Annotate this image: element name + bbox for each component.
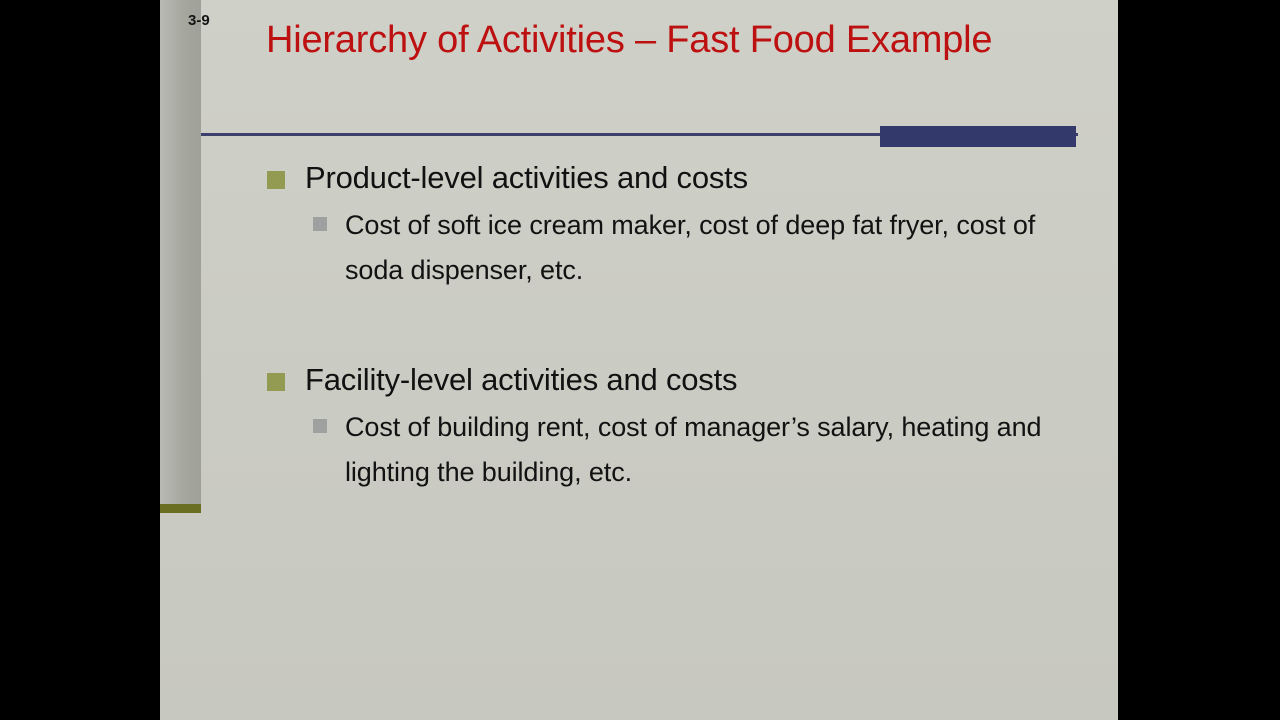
sub-bullet-item-facility-level-detail: Cost of building rent, cost of manager’s… — [160, 405, 1118, 496]
slide-stage: 3-9 Hierarchy of Activities – Fast Food … — [0, 0, 1280, 720]
square-bullet-icon — [267, 171, 285, 189]
square-bullet-icon — [267, 373, 285, 391]
sub-bullet-detail-label: Cost of building rent, cost of manager’s… — [345, 405, 1065, 496]
slide-number: 3-9 — [188, 13, 210, 28]
square-sub-bullet-icon — [313, 419, 327, 433]
bullet-heading-label: Product-level activities and costs — [305, 158, 1118, 199]
section-spacer — [160, 294, 1118, 360]
title-block: Hierarchy of Activities – Fast Food Exam… — [266, 14, 1056, 68]
side-decoration-strip-foot — [160, 504, 201, 513]
bullet-heading-label: Facility-level activities and costs — [305, 360, 1118, 401]
sub-bullet-item-product-level-detail: Cost of soft ice cream maker, cost of de… — [160, 203, 1118, 294]
page-title: Hierarchy of Activities – Fast Food Exam… — [266, 14, 1056, 68]
bullet-item-product-level: Product-level activities and costs — [160, 158, 1118, 199]
title-divider-accent-block — [880, 126, 1076, 147]
sub-bullet-detail-label: Cost of soft ice cream maker, cost of de… — [345, 203, 1065, 294]
slide-canvas: 3-9 Hierarchy of Activities – Fast Food … — [160, 0, 1118, 720]
slide-body: Product-level activities and costs Cost … — [160, 158, 1118, 495]
bullet-item-facility-level: Facility-level activities and costs — [160, 360, 1118, 401]
square-sub-bullet-icon — [313, 217, 327, 231]
